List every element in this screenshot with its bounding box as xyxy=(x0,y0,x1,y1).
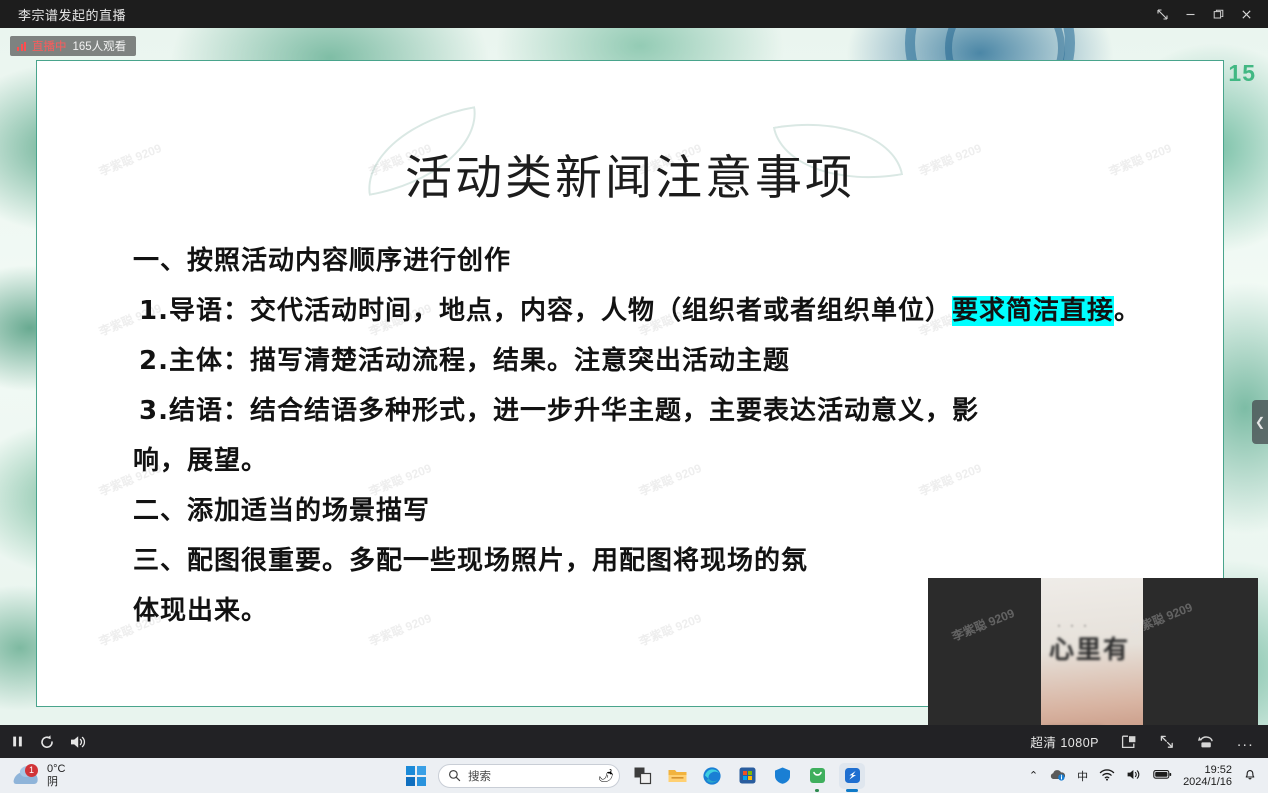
restore-down-button[interactable] xyxy=(1148,0,1176,28)
weather-text-group: 0°C 阴 xyxy=(47,763,65,789)
live-stream-window: 李宗谱发起的直播 xyxy=(0,0,1268,793)
window-title-bar: 李宗谱发起的直播 xyxy=(0,0,1268,28)
slide-line: 响，展望。 xyxy=(133,436,1143,486)
player-left-controls xyxy=(0,734,88,750)
minimize-icon xyxy=(1184,8,1197,21)
edge-icon xyxy=(702,766,722,786)
minimize-button[interactable] xyxy=(1176,0,1204,28)
volume-icon xyxy=(1126,768,1142,781)
picture-in-picture-button[interactable] xyxy=(1121,734,1137,750)
side-panel-toggle[interactable]: ❮ xyxy=(1252,400,1268,444)
shrink-arrow-icon xyxy=(1156,8,1169,21)
viewer-count-label: 165人观看 xyxy=(73,38,127,54)
cloudy-weather-icon: 1 xyxy=(14,766,40,786)
weather-widget[interactable]: 1 0°C 阴 xyxy=(0,763,65,789)
windows-security-button[interactable] xyxy=(769,763,795,789)
player-right-controls: 超清 1080P ... xyxy=(1030,732,1268,751)
presenter-camera-pip[interactable]: ··· 心里有 李紫聪 9209 李紫聪 9209 遥感三班刘... xyxy=(928,578,1258,725)
slide-line-post: 。 xyxy=(1114,296,1141,326)
pause-icon xyxy=(10,734,25,749)
green-app-button[interactable] xyxy=(804,763,830,789)
expand-arrows-icon xyxy=(1159,734,1175,750)
maximize-button[interactable] xyxy=(1204,0,1232,28)
refresh-button[interactable] xyxy=(39,734,55,750)
volume-button[interactable] xyxy=(69,734,88,750)
ime-indicator[interactable]: 中 xyxy=(1077,768,1088,784)
weather-temperature: 0°C xyxy=(47,763,65,776)
store-icon xyxy=(738,766,757,785)
chili-pepper-icon: 🌶 xyxy=(597,768,614,784)
windows-logo-icon xyxy=(406,766,426,786)
close-button[interactable] xyxy=(1232,0,1260,28)
signal-bars-icon xyxy=(17,42,26,51)
live-status-badge: 直播中 165人观看 xyxy=(10,36,136,56)
weather-condition: 阴 xyxy=(47,776,65,789)
pip-board-text: 心里有 xyxy=(1049,630,1130,666)
live-app-icon xyxy=(843,766,862,785)
slide-line-pre: 1.导语：交代活动时间，地点，内容，人物（组织者或者组织单位） xyxy=(139,296,952,326)
taskbar-center-group: 搜索 🌶 xyxy=(403,763,865,789)
edge-browser-button[interactable] xyxy=(699,763,725,789)
notifications-button[interactable] xyxy=(1243,767,1257,784)
onedrive-icon[interactable] xyxy=(1049,768,1066,784)
shield-icon xyxy=(773,766,792,785)
battery-icon xyxy=(1153,769,1172,780)
watermark-text: 李紫聪 9209 xyxy=(949,604,1017,644)
live-status-label: 直播中 xyxy=(32,38,67,54)
close-icon xyxy=(1240,8,1253,21)
rotate-icon xyxy=(1197,734,1215,750)
refresh-icon xyxy=(39,734,55,750)
live-app-button[interactable] xyxy=(839,763,865,789)
window-title: 李宗谱发起的直播 xyxy=(18,5,126,24)
running-indicator xyxy=(815,789,819,792)
quality-selector[interactable]: 超清 1080P xyxy=(1030,732,1099,751)
slide-line: 3.结语：结合结语多种形式，进一步升华主题，主要表达活动意义，影 xyxy=(133,386,1143,436)
microsoft-store-button[interactable] xyxy=(734,763,760,789)
system-tray: ⌃ 中 xyxy=(1029,764,1268,788)
stream-video-stage[interactable]: 15 直播中 165人观看 李紫聪 9209 李紫聪 9209 李紫聪 9209… xyxy=(0,28,1268,725)
windows-taskbar: 1 0°C 阴 搜索 🌶 xyxy=(0,758,1268,793)
pause-button[interactable] xyxy=(10,734,25,749)
window-controls xyxy=(1148,0,1268,28)
picture-in-picture-icon xyxy=(1121,734,1137,750)
tray-date: 2024/1/16 xyxy=(1183,776,1232,788)
slide-line: 2.主体：描写清楚活动流程，结果。注意突出活动主题 xyxy=(133,336,1143,386)
taskbar-search-box[interactable]: 搜索 🌶 xyxy=(438,764,620,788)
highlighted-phrase: 要求简洁直接 xyxy=(952,296,1114,326)
folder-icon xyxy=(667,766,688,785)
search-placeholder: 搜索 xyxy=(468,768,491,784)
rotate-screen-button[interactable] xyxy=(1197,734,1215,750)
wifi-icon xyxy=(1099,768,1115,781)
task-view-button[interactable] xyxy=(629,763,655,789)
task-view-icon xyxy=(633,766,652,785)
bell-icon xyxy=(1243,767,1257,781)
volume-icon xyxy=(69,734,88,750)
green-app-icon xyxy=(808,766,827,785)
slide-line-highlighted: 1.导语：交代活动时间，地点，内容，人物（组织者或者组织单位）要求简洁直接。 xyxy=(133,286,1143,336)
wifi-button[interactable] xyxy=(1099,768,1115,784)
slide-title: 活动类新闻注意事项 xyxy=(37,139,1223,208)
fullscreen-button[interactable] xyxy=(1159,734,1175,750)
slide-body: 一、按照活动内容顺序进行创作 1.导语：交代活动时间，地点，内容，人物（组织者或… xyxy=(133,236,1143,636)
start-button[interactable] xyxy=(403,763,429,789)
clock-widget[interactable]: 19:52 2024/1/16 xyxy=(1183,764,1232,788)
slide-page-number: 15 xyxy=(1228,60,1256,87)
file-explorer-button[interactable] xyxy=(664,763,690,789)
slide-line: 二、添加适当的场景描写 xyxy=(133,486,1143,536)
slide-line: 一、按照活动内容顺序进行创作 xyxy=(133,236,1143,286)
search-icon xyxy=(448,769,461,782)
player-control-bar: 超清 1080P ... xyxy=(0,725,1268,758)
maximize-icon xyxy=(1212,8,1225,21)
tray-time: 19:52 xyxy=(1183,764,1232,776)
more-options-button[interactable]: ... xyxy=(1237,738,1254,746)
battery-button[interactable] xyxy=(1153,769,1172,783)
tray-expand-chevron-icon[interactable]: ⌃ xyxy=(1029,769,1038,782)
volume-tray-button[interactable] xyxy=(1126,768,1142,784)
pip-video-feed: ··· 心里有 xyxy=(1041,578,1143,725)
notification-badge: 1 xyxy=(25,764,38,777)
